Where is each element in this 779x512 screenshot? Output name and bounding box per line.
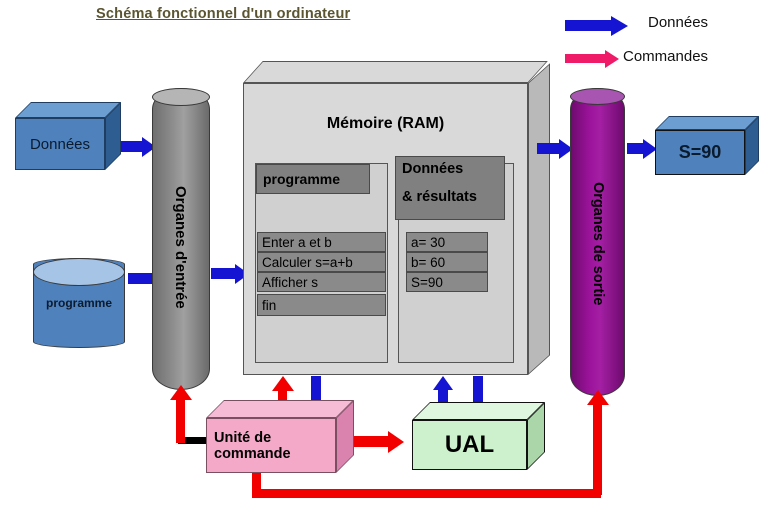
program-panel-header-label: programme [263,171,340,187]
result-box-top-face [655,116,759,130]
arrow-shaft [627,143,643,154]
blue-arrow-icon [565,20,611,31]
input-cylinder-top [152,88,210,106]
memory-data-values: a= 30 b= 60 S=90 [406,232,488,292]
program-line: Enter a et b [257,232,386,252]
command-bus-horizontal-bottom [252,489,601,498]
control-unit-front-face: Unité de commande [206,418,336,473]
arrow-head-icon [272,376,294,391]
memory-title: Mémoire (RAM) [243,115,528,133]
arrow-command-bus-to-output-unit [587,390,609,495]
arrow-shaft [593,404,602,495]
data-value: a= 30 [406,232,488,252]
program-line: fin [257,294,386,316]
input-unit-cylinder: Organes d'entrée [152,88,210,390]
arrow-head-icon [433,376,453,390]
program-line: Calculer s=a+b [257,252,386,272]
result-box-label: S=90 [679,142,722,163]
memory-program-panel-header: programme [256,164,370,194]
memory-program-lines: Enter a et b Calculer s=a+b Afficher s f… [257,232,386,316]
alu-top-face [412,402,545,420]
arrow-shaft [537,143,559,154]
pink-arrow-head-icon [605,50,619,68]
arrow-head-icon [388,431,404,453]
arrow-shaft [211,268,235,279]
page-title: Schéma fonctionnel d'un ordinateur [96,6,350,22]
input-data-box-label: Données [30,136,90,153]
legend: Données Commandes [560,14,779,74]
arrow-control-to-input-unit [170,385,192,443]
output-unit-label: Organes de sortie [590,182,606,305]
memory-top-face [243,61,548,83]
alu-box: UAL [412,420,527,470]
arrow-head-icon [170,385,192,400]
memory-data-panel-header: Données & résultats [395,156,505,220]
control-unit-label-line1: Unité de [214,430,271,446]
data-panel-header-line2: & résultats [402,189,504,205]
alu-label: UAL [445,431,494,459]
input-unit-label: Organes d'entrée [172,186,189,309]
data-box-front-face: Données [15,118,105,170]
output-unit-cylinder: Organes de sortie [570,88,625,396]
control-unit-box: Unité de commande [206,418,336,473]
program-cylinder-label: programme [33,296,125,310]
legend-item-commandes: Commandes [560,48,779,74]
legend-label-donnees: Données [648,14,708,31]
data-box-top-face [15,102,121,118]
result-box: S=90 [655,130,745,175]
data-value: S=90 [406,272,488,292]
alu-front-face: UAL [412,420,527,470]
memory-ram-box: Mémoire (RAM) programme Enter a et b Cal… [243,83,528,375]
program-line: Afficher s [257,272,386,292]
program-storage-cylinder: programme [33,258,125,348]
control-unit-top-face [206,400,354,418]
arrow-shaft [128,273,154,284]
arrow-head-icon [587,390,609,405]
data-value: b= 60 [406,252,488,272]
output-cylinder-top [570,88,625,105]
pink-arrow-icon [565,54,605,63]
control-unit-label-line2: commande [214,446,291,462]
data-panel-header-line1: Données [402,161,504,177]
input-data-box: Données [15,118,105,170]
legend-item-donnees: Données [560,14,779,40]
blue-arrow-head-icon [611,16,628,36]
memory-side-face [528,63,550,375]
arrow-shaft [176,399,185,443]
legend-label-commandes: Commandes [623,48,708,65]
diagram-canvas: Schéma fonctionnel d'un ordinateur Donné… [0,0,779,512]
result-box-front-face: S=90 [655,130,745,175]
program-cylinder-top [33,258,125,286]
